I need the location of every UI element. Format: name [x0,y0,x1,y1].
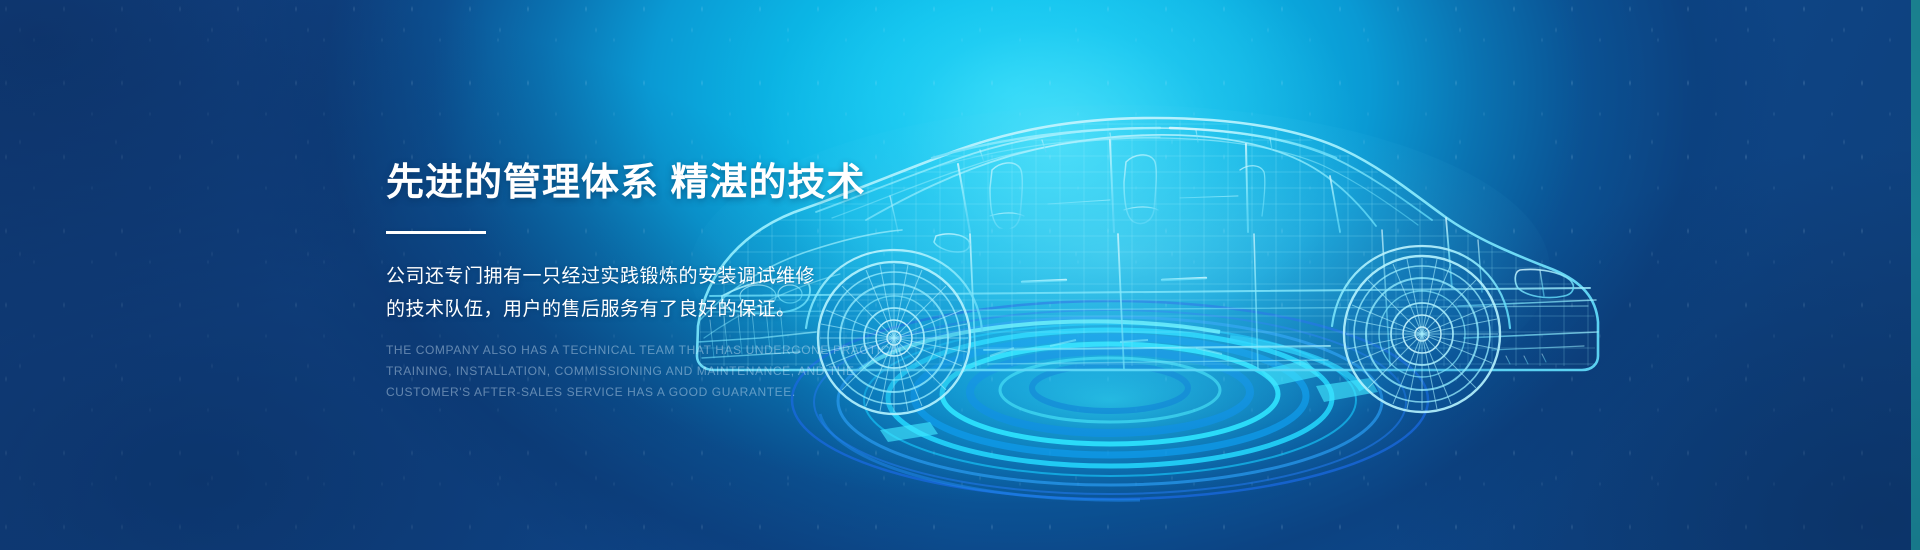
right-edge-strip [1911,0,1920,550]
description-chinese-line-1: 公司还专门拥有一只经过实践锻炼的安装调试维修 [386,260,856,293]
hero-banner: 先进的管理体系 精湛的技术 公司还专门拥有一只经过实践锻炼的安装调试维修 的技术… [0,0,1920,550]
description-english-line-3: CUSTOMER'S AFTER-SALES SERVICE HAS A GOO… [386,382,856,403]
description-english-line-1: THE COMPANY ALSO HAS A TECHNICAL TEAM TH… [386,340,856,361]
page-title: 先进的管理体系 精湛的技术 [386,160,856,206]
description-english: THE COMPANY ALSO HAS A TECHNICAL TEAM TH… [386,340,856,403]
description-chinese-line-2: 的技术队伍，用户的售后服务有了良好的保证。 [386,293,856,326]
description-english-line-2: TRAINING, INSTALLATION, COMMISSIONING AN… [386,361,856,382]
description-chinese: 公司还专门拥有一只经过实践锻炼的安装调试维修 的技术队伍，用户的售后服务有了良好… [386,260,856,326]
hero-copy: 先进的管理体系 精湛的技术 公司还专门拥有一只经过实践锻炼的安装调试维修 的技术… [386,160,856,403]
rear-wheel [1344,256,1500,412]
title-divider [386,231,486,234]
